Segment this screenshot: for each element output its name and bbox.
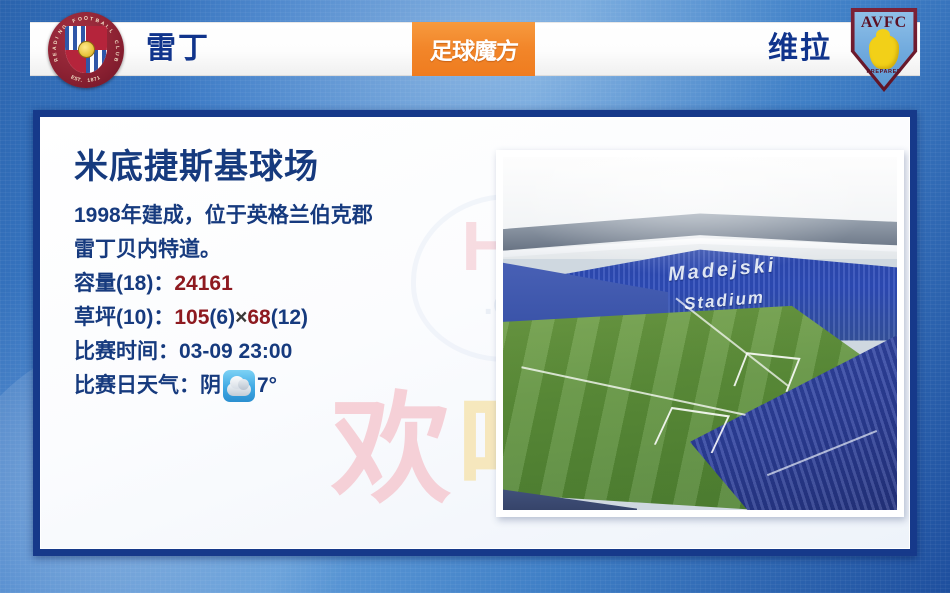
- site-logo: 足球魔方: [412, 22, 535, 76]
- lion-icon: [869, 35, 899, 69]
- content-panel: HH .co 欢呼 米底捷斯基球场 1998年建成，位于英格兰伯克郡 雷丁贝内特…: [33, 110, 917, 556]
- pitch-label: 草坪(10)：: [74, 306, 174, 329]
- stadium-description-line-2: 雷丁贝内特道。: [74, 233, 494, 267]
- match-time-value: 03-09 23:00: [179, 340, 292, 363]
- stadium-info-block: 米底捷斯基球场 1998年建成，位于英格兰伯克郡 雷丁贝内特道。 容量(18)：…: [74, 148, 494, 403]
- pitch-width-rank: (12): [271, 306, 308, 329]
- capacity-label: 容量(18)：: [74, 272, 174, 295]
- match-time-label: 比赛时间：: [74, 340, 179, 363]
- match-time-row: 比赛时间：03-09 23:00: [74, 335, 494, 369]
- reading-fc-crest: READING FOOTBALL CLUBEST. 1871: [48, 12, 124, 88]
- crest-shield: [65, 26, 107, 73]
- match-stadium-infographic: READING FOOTBALL CLUBEST. 1871 雷丁 足球魔方 维…: [0, 0, 950, 593]
- content-panel-inner: HH .co 欢呼 米底捷斯基球场 1998年建成，位于英格兰伯克郡 雷丁贝内特…: [40, 117, 910, 549]
- stadium-photo-frame: Madejski Stadium: [496, 150, 904, 517]
- site-logo-text: 足球魔方: [429, 32, 518, 66]
- pitch-width: 68: [247, 306, 270, 329]
- madejski-stadium-photo: Madejski Stadium: [503, 157, 897, 510]
- capacity-row: 容量(18)：24161: [74, 267, 494, 301]
- pitch-separator: ×: [235, 306, 247, 329]
- pitch-row: 草坪(10)：105(6)×68(12): [74, 301, 494, 335]
- weather-condition: 阴: [200, 369, 221, 403]
- crest-center-badge: [78, 41, 95, 58]
- villa-motto: PREPARED: [848, 69, 920, 75]
- cloudy-icon: [223, 370, 255, 402]
- weather-row: 比赛日天气：阴 7°: [74, 369, 494, 403]
- weather-label: 比赛日天气：: [74, 369, 200, 403]
- pitch-length: 105: [174, 306, 209, 329]
- capacity-value: 24161: [174, 272, 232, 295]
- away-team-name: 维拉: [768, 26, 832, 72]
- stadium-title: 米底捷斯基球场: [74, 148, 494, 187]
- weather-temperature: 7°: [257, 369, 277, 403]
- stadium-description-line-1: 1998年建成，位于英格兰伯克郡: [74, 199, 494, 233]
- aston-villa-crest: AVFC PREPARED: [848, 8, 920, 92]
- pitch-length-rank: (6): [209, 306, 235, 329]
- home-team-name: 雷丁: [146, 26, 210, 72]
